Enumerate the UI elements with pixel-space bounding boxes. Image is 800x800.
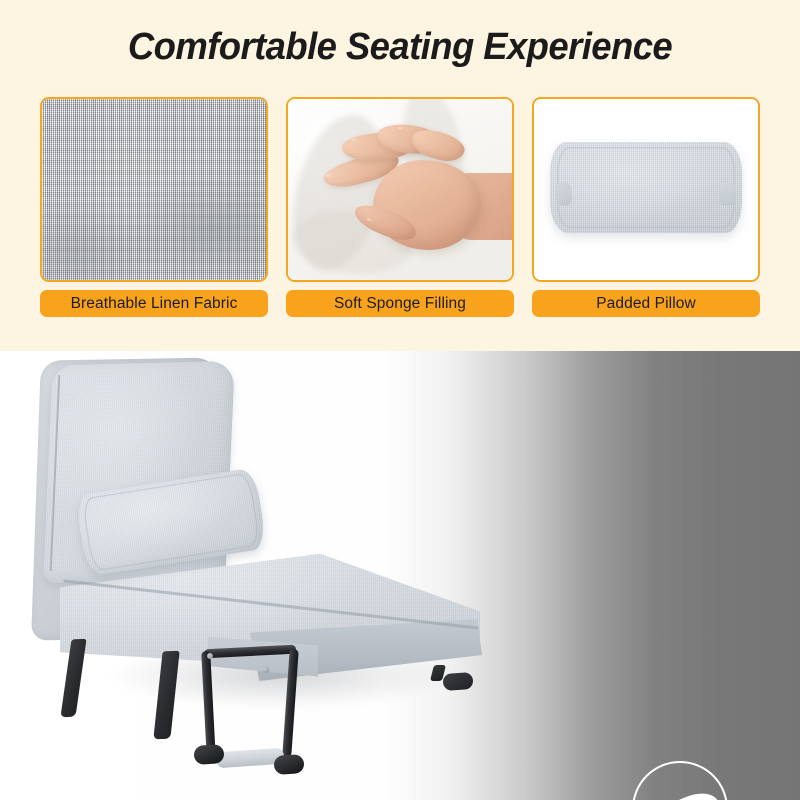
pillow-fabric-texture <box>550 142 743 233</box>
support-bar-screw <box>207 653 213 659</box>
support-bar-cap-left <box>193 744 224 765</box>
padded-pillow-image <box>532 97 760 282</box>
fingernail <box>398 127 403 130</box>
product-marketing-image: Comfortable Seating Experience Breathabl… <box>0 0 800 800</box>
thumbnail <box>367 218 373 222</box>
leg-middle <box>153 651 179 740</box>
support-bar <box>196 639 308 763</box>
fabric-weave-texture <box>42 99 266 280</box>
support-bar-right-leg <box>282 649 299 757</box>
pillow-body <box>550 142 743 233</box>
hand-on-fabric-icon <box>632 761 728 800</box>
feature-card-pillow: Padded Pillow <box>532 97 760 327</box>
hand-graphic <box>315 113 508 280</box>
features-header-section: Comfortable Seating Experience Breathabl… <box>0 0 800 351</box>
feature-card-label-linen: Breathable Linen Fabric <box>40 290 268 317</box>
support-bar-top-rail <box>204 645 296 659</box>
feature-card-linen: Breathable Linen Fabric <box>40 97 268 327</box>
feature-card-label-sponge: Soft Sponge Filling <box>286 290 514 317</box>
support-bar-screw <box>263 667 269 673</box>
foot-far <box>442 672 473 691</box>
foam-scene <box>288 99 512 280</box>
page-title: Comfortable Seating Experience <box>16 26 784 69</box>
linen-fabric-swatch-image <box>40 97 268 282</box>
support-bar-left-leg <box>201 651 216 759</box>
feature-card-label-pillow: Padded Pillow <box>532 290 760 317</box>
fingernail <box>326 173 333 177</box>
fingernail <box>351 139 357 142</box>
feature-card-sponge: Soft Sponge Filling <box>286 97 514 327</box>
pillow-scene <box>534 99 758 280</box>
support-bar-cap-right <box>273 754 304 775</box>
feature-card-list: Breathable Linen Fabric <box>40 97 760 327</box>
chaise-lounge-product <box>18 351 538 781</box>
hand-pressing-foam-image <box>286 97 514 282</box>
benefit-skin-friendly: Skin-friendly <box>596 761 764 800</box>
product-showcase-section: Skin-friendly <box>0 351 800 800</box>
